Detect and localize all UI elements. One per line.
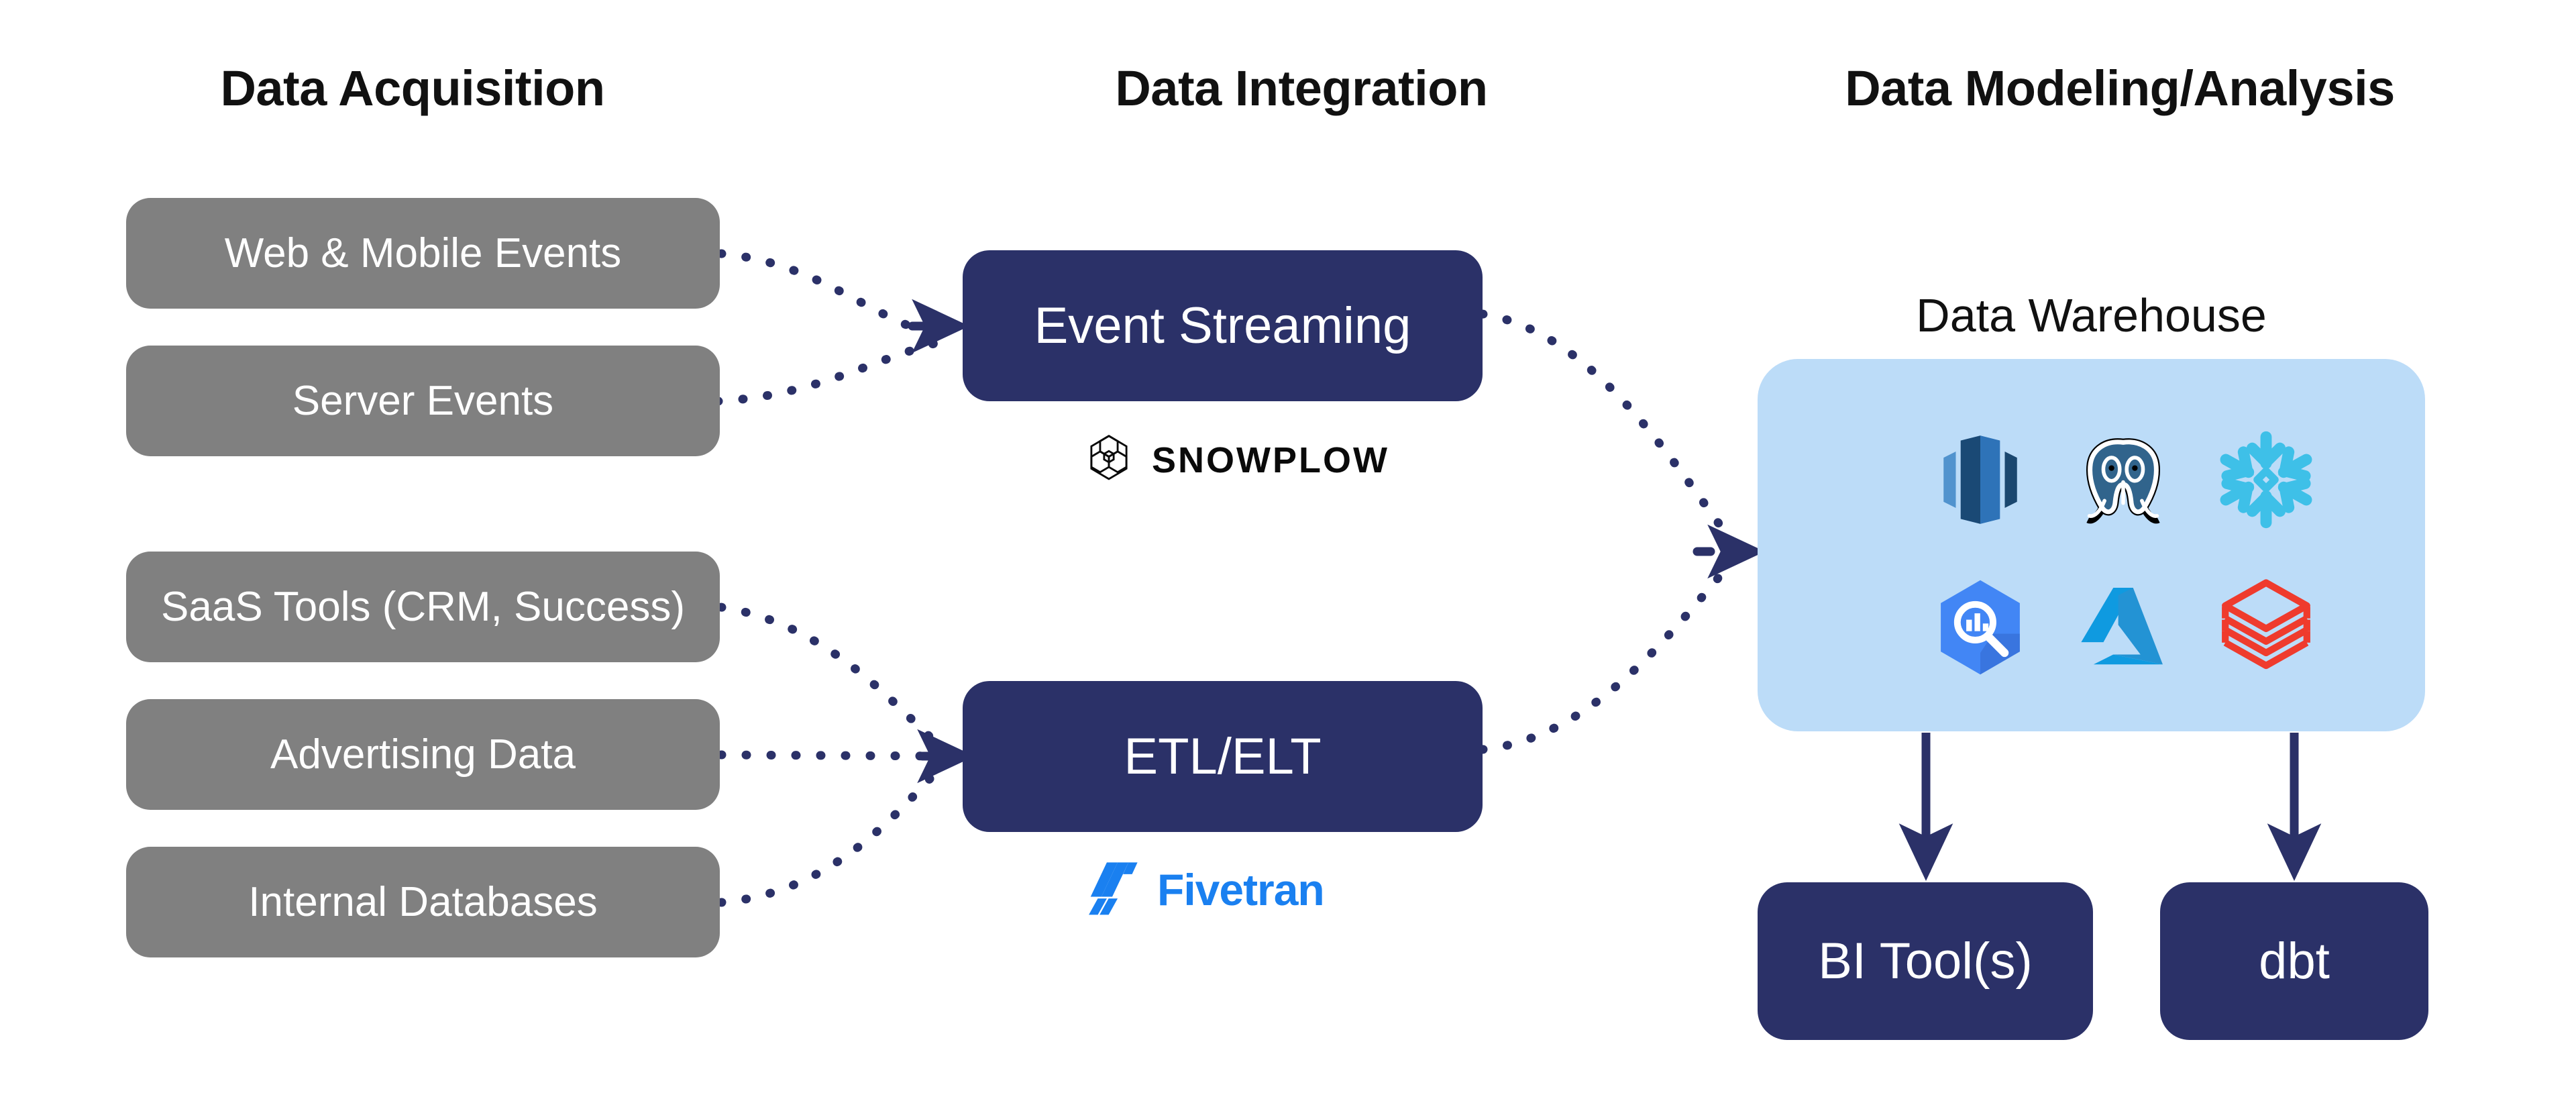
postgresql-icon[interactable] — [2073, 429, 2173, 530]
source-box-server-events[interactable]: Server Events — [126, 346, 720, 456]
stage-box-etl-elt[interactable]: ETL/ELT — [963, 681, 1483, 832]
snowflake-icon[interactable] — [2216, 429, 2316, 530]
stage-box-event-streaming[interactable]: Event Streaming — [963, 250, 1483, 401]
data-stack-diagram: Data Acquisition Data Integration Data M… — [0, 0, 2576, 1095]
source-box-saas-tools[interactable]: SaaS Tools (CRM, Success) — [126, 552, 720, 662]
output-box-label: dbt — [2259, 932, 2330, 990]
column-heading-data-integration: Data Integration — [842, 64, 1761, 113]
connector-event-streaming-to-warehouse — [1483, 314, 1737, 549]
connector-internal-databases-to-etl — [721, 762, 946, 902]
connector-saas-tools-to-etl — [721, 607, 946, 751]
fivetran-slashes-icon — [1083, 859, 1141, 920]
connector-web-events-to-event-streaming — [721, 254, 939, 337]
microsoft-azure-icon[interactable] — [2073, 577, 2173, 678]
source-box-label: Web & Mobile Events — [225, 229, 622, 277]
source-box-advertising-data[interactable]: Advertising Data — [126, 699, 720, 810]
connector-server-events-to-event-streaming — [718, 342, 939, 401]
google-bigquery-icon[interactable] — [1930, 577, 2031, 678]
warehouse-icon-grid — [1909, 406, 2338, 701]
column-heading-data-modeling-analysis: Data Modeling/Analysis — [1664, 64, 2576, 113]
aws-redshift-icon[interactable] — [1930, 429, 2031, 530]
snowplow-logo: SNOWPLOW — [1083, 433, 1389, 487]
source-box-internal-databases[interactable]: Internal Databases — [126, 847, 720, 957]
stage-box-label: ETL/ELT — [1124, 727, 1321, 786]
fivetran-wordmark: Fivetran — [1157, 864, 1324, 915]
databricks-icon[interactable] — [2216, 577, 2316, 678]
source-box-label: Internal Databases — [248, 878, 597, 926]
connector-etl-to-warehouse — [1483, 556, 1737, 749]
output-box-dbt[interactable]: dbt — [2160, 882, 2428, 1040]
snowplow-cube-icon — [1083, 433, 1134, 487]
output-box-bi-tools[interactable]: BI Tool(s) — [1758, 882, 2093, 1040]
snowplow-wordmark: SNOWPLOW — [1152, 439, 1389, 481]
column-heading-data-acquisition: Data Acquisition — [0, 64, 825, 113]
source-box-label: Server Events — [292, 377, 553, 425]
connector-advertising-data-to-etl — [721, 755, 945, 756]
output-box-label: BI Tool(s) — [1818, 932, 2033, 990]
source-box-label: Advertising Data — [270, 731, 576, 778]
fivetran-logo: Fivetran — [1083, 859, 1324, 920]
warehouse-label: Data Warehouse — [1758, 289, 2425, 342]
stage-box-label: Event Streaming — [1034, 297, 1411, 355]
source-box-web-mobile-events[interactable]: Web & Mobile Events — [126, 198, 720, 309]
source-box-label: SaaS Tools (CRM, Success) — [161, 583, 685, 631]
